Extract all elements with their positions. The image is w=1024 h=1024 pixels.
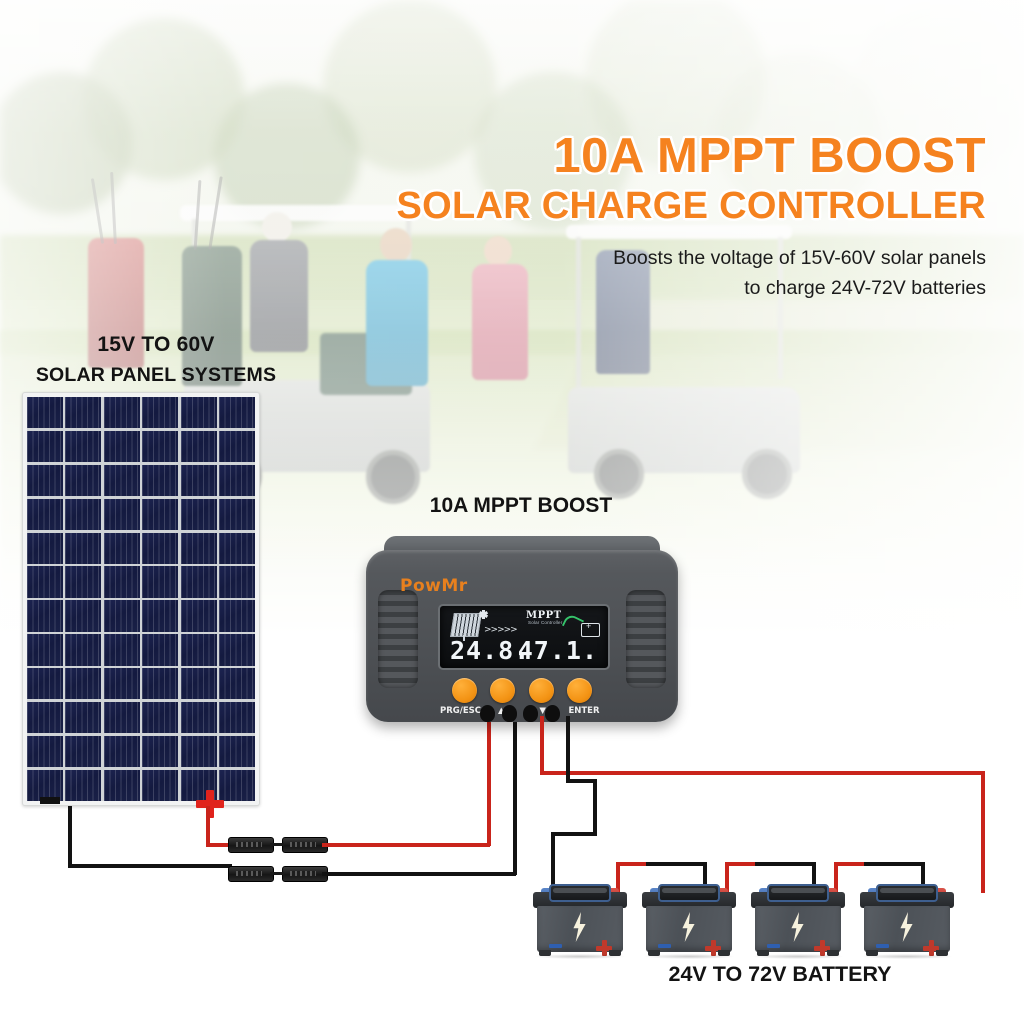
battery-unit: [533, 878, 627, 956]
solar-cell: [27, 465, 63, 496]
controller-button-row: [452, 678, 592, 703]
solar-cell: [27, 736, 63, 767]
terminal-pv-positive: [480, 705, 495, 722]
jumper-2-red-run: [725, 862, 757, 866]
solar-cell: [27, 431, 63, 462]
solar-cell: [219, 397, 255, 428]
battery-shadow: [753, 954, 843, 959]
solar-cell: [142, 736, 178, 767]
solar-cell: [104, 736, 140, 767]
solar-cell: [65, 736, 101, 767]
battery-vent-cover: [658, 884, 720, 902]
solar-cell: [142, 600, 178, 631]
jumper-3-black-run: [864, 862, 924, 866]
solar-cell: [219, 499, 255, 530]
solar-cell: [27, 499, 63, 530]
solar-cell: [219, 736, 255, 767]
wire-batt-positive-drop: [540, 716, 544, 774]
lcd-mode-subtext: Solar Controller: [528, 620, 562, 625]
description-line-1: Boosts the voltage of 15V-60V solar pane…: [396, 245, 986, 273]
solar-cell: [142, 702, 178, 733]
wire-panel-positive-vertical: [206, 806, 210, 846]
wire-pv-positive-to-controller: [322, 843, 490, 847]
solar-cell: [65, 600, 101, 631]
solar-cell: [27, 533, 63, 564]
solar-cell: [27, 634, 63, 665]
solar-cell: [27, 397, 63, 428]
up-button[interactable]: [490, 678, 515, 703]
mc4-connector-female-negative: [228, 866, 274, 882]
power-flow-arrows-icon: >>>>>: [484, 625, 517, 635]
solar-cell: [219, 634, 255, 665]
solar-cell: [27, 702, 63, 733]
solar-cell: [181, 431, 217, 462]
battery-shadow: [862, 954, 952, 959]
page-title: 10A MPPT BOOST: [396, 132, 986, 182]
battery-unit: [751, 878, 845, 956]
prg-esc-button-label: PRG/ESC: [440, 706, 480, 716]
battery-minus-sign-icon: [549, 944, 562, 948]
solar-cell: [181, 668, 217, 699]
solar-cell: [219, 770, 255, 801]
solar-cell: [65, 634, 101, 665]
solar-cell: [181, 465, 217, 496]
solar-cell: [27, 600, 63, 631]
solar-cell: [142, 499, 178, 530]
solar-cell: [142, 566, 178, 597]
solar-cell: [142, 431, 178, 462]
solar-panel-label-text: SOLAR PANEL SYSTEMS: [26, 364, 286, 387]
wire-batt-positive-run: [540, 771, 984, 775]
solar-panel: [22, 392, 260, 806]
jumper-2-black-run: [755, 862, 815, 866]
solar-cell: [219, 702, 255, 733]
controller-terminal-row: [480, 705, 560, 722]
solar-cell: [181, 397, 217, 428]
battery-minus-sign-icon: [876, 944, 889, 948]
product-infographic: 10A MPPT BOOST SOLAR CHARGE CONTROLLER B…: [0, 0, 1024, 1024]
battery-icon: [581, 623, 600, 637]
battery-vent-cover: [876, 884, 938, 902]
wire-pv-positive-riser: [487, 716, 491, 846]
terminal-pv-negative: [502, 705, 517, 722]
battery-shadow: [644, 954, 734, 959]
solar-cell: [142, 465, 178, 496]
sun-icon: [479, 610, 488, 619]
wire-batt-negative-step: [566, 779, 596, 783]
controller-label: 10A MPPT BOOST: [397, 494, 645, 518]
solar-panel-label-voltage: 15V TO 60V: [26, 333, 286, 357]
solar-cell: [104, 533, 140, 564]
solar-cell: [181, 736, 217, 767]
battery-minus-sign-icon: [767, 944, 780, 948]
solar-cell: [104, 600, 140, 631]
solar-cell: [104, 499, 140, 530]
solar-cell: [65, 668, 101, 699]
solar-cell: [104, 566, 140, 597]
solar-cell: [181, 566, 217, 597]
wire-batt-positive-to-last-battery: [981, 771, 985, 893]
solar-cell: [181, 499, 217, 530]
solar-cell: [65, 499, 101, 530]
battery-vent-cover: [549, 884, 611, 902]
lcd-display: >>>>> MPPT Solar Controller 24.8. 47.1.: [438, 604, 610, 670]
solar-cell: [142, 397, 178, 428]
wire-batt-negative-step-left: [551, 832, 597, 836]
solar-cell: [65, 397, 101, 428]
terminal-battery-positive: [523, 705, 538, 722]
solar-cell: [181, 702, 217, 733]
solar-cell: [142, 634, 178, 665]
solar-cell: [65, 770, 101, 801]
wire-pv-negative-riser: [513, 716, 517, 875]
solar-cell: [104, 431, 140, 462]
mc4-pin-positive: [270, 843, 284, 846]
lcd-battery-voltage-value: 47.1.: [518, 636, 598, 665]
solar-cell: [219, 566, 255, 597]
solar-cell: [104, 465, 140, 496]
solar-cell: [142, 533, 178, 564]
wire-panel-negative-vertical: [68, 806, 72, 868]
solar-panel-cell-grid: [27, 397, 255, 801]
page-subtitle: SOLAR CHARGE CONTROLLER: [396, 186, 986, 227]
solar-cell: [181, 634, 217, 665]
solar-cell: [181, 600, 217, 631]
wire-batt-negative-drop: [566, 716, 570, 782]
solar-cell: [65, 533, 101, 564]
jumper-3-red-run: [834, 862, 866, 866]
solar-cell: [65, 566, 101, 597]
solar-cell: [219, 668, 255, 699]
mc4-pin-negative: [270, 872, 284, 875]
terminal-battery-negative: [545, 705, 560, 722]
solar-cell: [104, 770, 140, 801]
solar-panel-label: 15V TO 60V SOLAR PANEL SYSTEMS: [26, 333, 286, 387]
jumper-1-red-run: [616, 862, 648, 866]
solar-cell: [142, 770, 178, 801]
solar-cell: [27, 566, 63, 597]
jumper-1-black-run: [646, 862, 706, 866]
solar-cell: [219, 533, 255, 564]
solar-cell: [219, 431, 255, 462]
solar-cell: [219, 465, 255, 496]
solar-cell: [65, 702, 101, 733]
battery-vent-cover: [767, 884, 829, 902]
heatsink-fins-right: [620, 584, 672, 694]
solar-cell: [142, 668, 178, 699]
solar-cell: [104, 397, 140, 428]
powmr-logo: PowMr: [400, 576, 468, 596]
battery-shadow: [535, 954, 625, 959]
heatsink-fins-left: [372, 584, 424, 694]
lcd-solar-panel-icon: [450, 613, 482, 637]
wire-batt-negative-step-down: [593, 779, 597, 835]
battery-unit: [860, 878, 954, 956]
solar-cell: [27, 668, 63, 699]
solar-cell: [181, 533, 217, 564]
solar-cell: [65, 465, 101, 496]
down-button[interactable]: [529, 678, 554, 703]
battery-minus-sign-icon: [658, 944, 671, 948]
solar-cell: [104, 668, 140, 699]
panel-negative-terminal-icon: [40, 797, 60, 804]
battery-unit: [642, 878, 736, 956]
panel-positive-terminal-icon: [196, 790, 224, 818]
solar-cell: [104, 634, 140, 665]
prg-esc-button[interactable]: [452, 678, 477, 703]
controller-housing: PowMr >>>>> MPPT Solar Controller 24.8. …: [366, 550, 678, 722]
wire-panel-negative-horizontal: [68, 864, 232, 868]
mc4-connector-female-positive: [228, 837, 274, 853]
solar-cell: [65, 431, 101, 462]
solar-cell: [219, 600, 255, 631]
solar-cell: [104, 702, 140, 733]
mppt-charge-controller: PowMr >>>>> MPPT Solar Controller 24.8. …: [366, 536, 678, 722]
enter-button-label: ENTER: [564, 706, 604, 716]
description-line-2: to charge 24V-72V batteries: [396, 275, 986, 303]
battery-label: 24V TO 72V BATTERY: [600, 962, 960, 987]
wire-pv-negative-to-controller: [322, 872, 516, 876]
headline-block: 10A MPPT BOOST SOLAR CHARGE CONTROLLER B…: [396, 132, 986, 302]
enter-button[interactable]: [567, 678, 592, 703]
